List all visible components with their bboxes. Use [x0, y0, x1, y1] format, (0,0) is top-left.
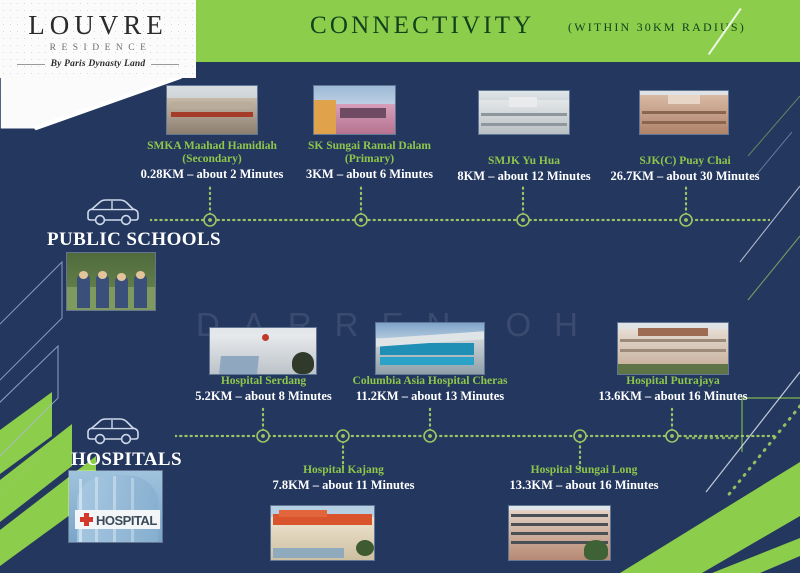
sjk-c-puay-chai-photo — [639, 90, 729, 135]
hospital-sungai-long-photo — [508, 505, 611, 561]
hospital-name-above-2: Hospital Putrajaya — [592, 375, 754, 388]
school-name-0: SMKA Maahad Hamidiah — [132, 140, 292, 153]
school-distance-1: 3KM – about 6 Minutes — [292, 167, 447, 182]
school-label-0: SMKA Maahad Hamidiah (Secondary) 0.28KM … — [132, 140, 292, 182]
category-label-public-schools: PUBLIC SCHOOLS — [47, 229, 221, 251]
hospital-distance-above-2: 13.6KM – about 16 Minutes — [592, 389, 754, 404]
hospital-name-above-0: Hospital Serdang — [186, 375, 341, 388]
car-icon-hospitals — [84, 415, 142, 447]
hospital-distance-above-0: 5.2KM – about 8 Minutes — [186, 389, 341, 404]
school-name-3: SJK(C) Puay Chai — [604, 155, 766, 168]
hospital-serdang-photo — [209, 327, 317, 375]
school-name-2: SMJK Yu Hua — [448, 155, 600, 168]
hospital-label-below-1: Hospital Sungai Long 13.3KM – about 16 M… — [495, 464, 673, 493]
school-label-2: SMJK Yu Hua 8KM – about 12 Minutes — [448, 155, 600, 184]
hospital-label-above-1: Columbia Asia Hospital Cheras 11.2KM – a… — [341, 375, 519, 404]
car-icon-schools — [84, 196, 142, 228]
hospital-label-below-0: Hospital Kajang 7.8KM – about 11 Minutes — [261, 464, 426, 493]
hospital-putrajaya-photo — [617, 322, 729, 375]
school-name2-1: (Primary) — [292, 153, 447, 166]
school-distance-3: 26.7KM – about 30 Minutes — [604, 169, 766, 184]
sk-sungai-ramal-dalam-photo — [313, 85, 396, 135]
school-distance-0: 0.28KM – about 2 Minutes — [132, 167, 292, 182]
smka-maahad-hamidiah-photo — [166, 85, 258, 135]
hospital-label-above-0: Hospital Serdang 5.2KM – about 8 Minutes — [186, 375, 341, 404]
school-connector-lines — [150, 186, 770, 232]
hospital-name-below-1: Hospital Sungai Long — [495, 464, 673, 477]
category-label-hospitals: HOSPITALS — [71, 449, 182, 471]
hospital-building-photo: HOSPITAL — [68, 470, 163, 543]
school-name2-0: (Secondary) — [132, 153, 292, 166]
school-name-1: SK Sungai Ramal Dalam — [292, 140, 447, 153]
connectivity-infographic: CONNECTIVITY (WITHIN 30KM RADIUS) LOUVRE… — [0, 0, 800, 573]
hospital-name-above-1: Columbia Asia Hospital Cheras — [341, 375, 519, 388]
hospital-distance-below-0: 7.8KM – about 11 Minutes — [261, 478, 426, 493]
school-label-1: SK Sungai Ramal Dalam (Primary) 3KM – ab… — [292, 140, 447, 182]
school-label-3: SJK(C) Puay Chai 26.7KM – about 30 Minut… — [604, 155, 766, 184]
school-students-photo — [66, 252, 156, 311]
hospital-name-below-0: Hospital Kajang — [261, 464, 426, 477]
school-distance-2: 8KM – about 12 Minutes — [448, 169, 600, 184]
hospital-distance-below-1: 13.3KM – about 16 Minutes — [495, 478, 673, 493]
columbia-asia-hospital-cheras-photo — [375, 322, 485, 375]
hospital-kajang-photo — [270, 505, 375, 561]
hospital-label-above-2: Hospital Putrajaya 13.6KM – about 16 Min… — [592, 375, 754, 404]
smjk-yu-hua-photo — [478, 90, 570, 135]
hospital-connector-lines — [175, 406, 775, 470]
hospital-distance-above-1: 11.2KM – about 13 Minutes — [341, 389, 519, 404]
